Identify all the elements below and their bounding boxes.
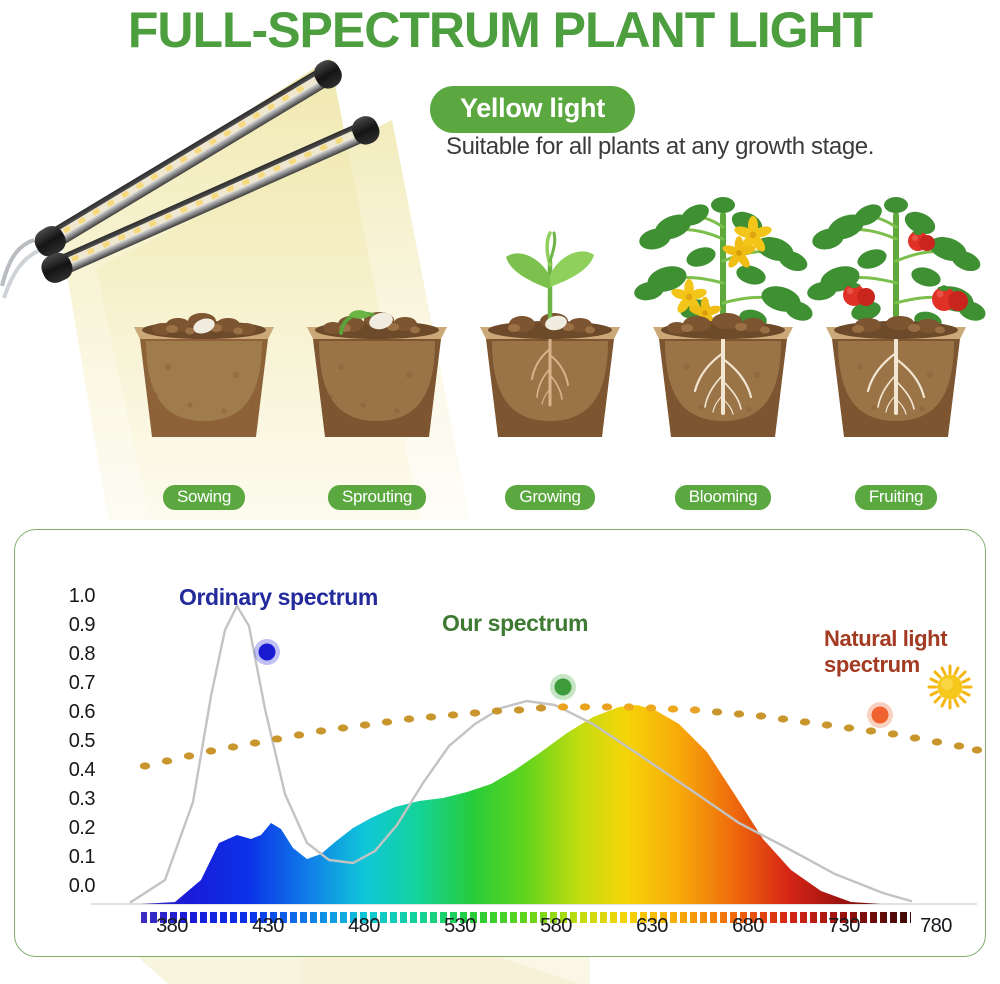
- x-tick: 430: [252, 915, 284, 938]
- pot-flowering-tomato-illustration: [635, 179, 811, 479]
- stage-label: Blooming: [675, 485, 771, 510]
- stage-item: Sowing: [116, 179, 292, 510]
- x-tick: 730: [828, 915, 860, 938]
- spectrum-plot: [15, 530, 986, 957]
- natural-light-spectrum-label: Natural light spectrum: [824, 626, 954, 678]
- stage-item: Growing: [462, 179, 638, 510]
- our-spectrum-area: [141, 705, 911, 904]
- pot-sprout-illustration: [289, 179, 465, 479]
- ordinary-spectrum-marker: [254, 639, 280, 665]
- x-tick: 680: [732, 915, 764, 938]
- pot-fruiting-tomato-illustration: [808, 179, 984, 479]
- x-tick: 380: [156, 915, 188, 938]
- x-tick: 480: [348, 915, 380, 938]
- x-tick: 580: [540, 915, 572, 938]
- pot-seed-illustration: [116, 179, 292, 479]
- our-spectrum-marker: [550, 674, 576, 700]
- spectrum-chart-panel: 1.0 0.9 0.8 0.7 0.6 0.5 0.4 0.3 0.2 0.1 …: [14, 529, 986, 957]
- subtitle-text: Suitable for all plants at any growth st…: [446, 133, 874, 161]
- stage-item: Blooming: [635, 179, 811, 510]
- x-tick: 630: [636, 915, 668, 938]
- natural-light-marker: [867, 702, 893, 728]
- x-tick: 780: [920, 915, 952, 938]
- yellow-light-badge: Yellow light: [430, 86, 635, 133]
- stage-item: Sprouting: [289, 179, 465, 510]
- stage-label: Sprouting: [328, 485, 426, 510]
- stage-label: Growing: [505, 485, 594, 510]
- stage-label: Sowing: [163, 485, 245, 510]
- stage-item: Fruiting: [808, 179, 984, 510]
- stage-label: Fruiting: [855, 485, 937, 510]
- x-tick: 530: [444, 915, 476, 938]
- infographic-root: FULL-SPECTRUM PLANT LIGHT: [0, 0, 1000, 984]
- pot-seedling-illustration: [462, 179, 638, 479]
- our-spectrum-label: Our spectrum: [442, 610, 588, 637]
- growth-stage-row: Sowing: [0, 170, 1000, 510]
- ordinary-spectrum-label: Ordinary spectrum: [179, 584, 378, 611]
- x-axis: 380 430 480 530 580 630 680 730 780: [15, 915, 986, 949]
